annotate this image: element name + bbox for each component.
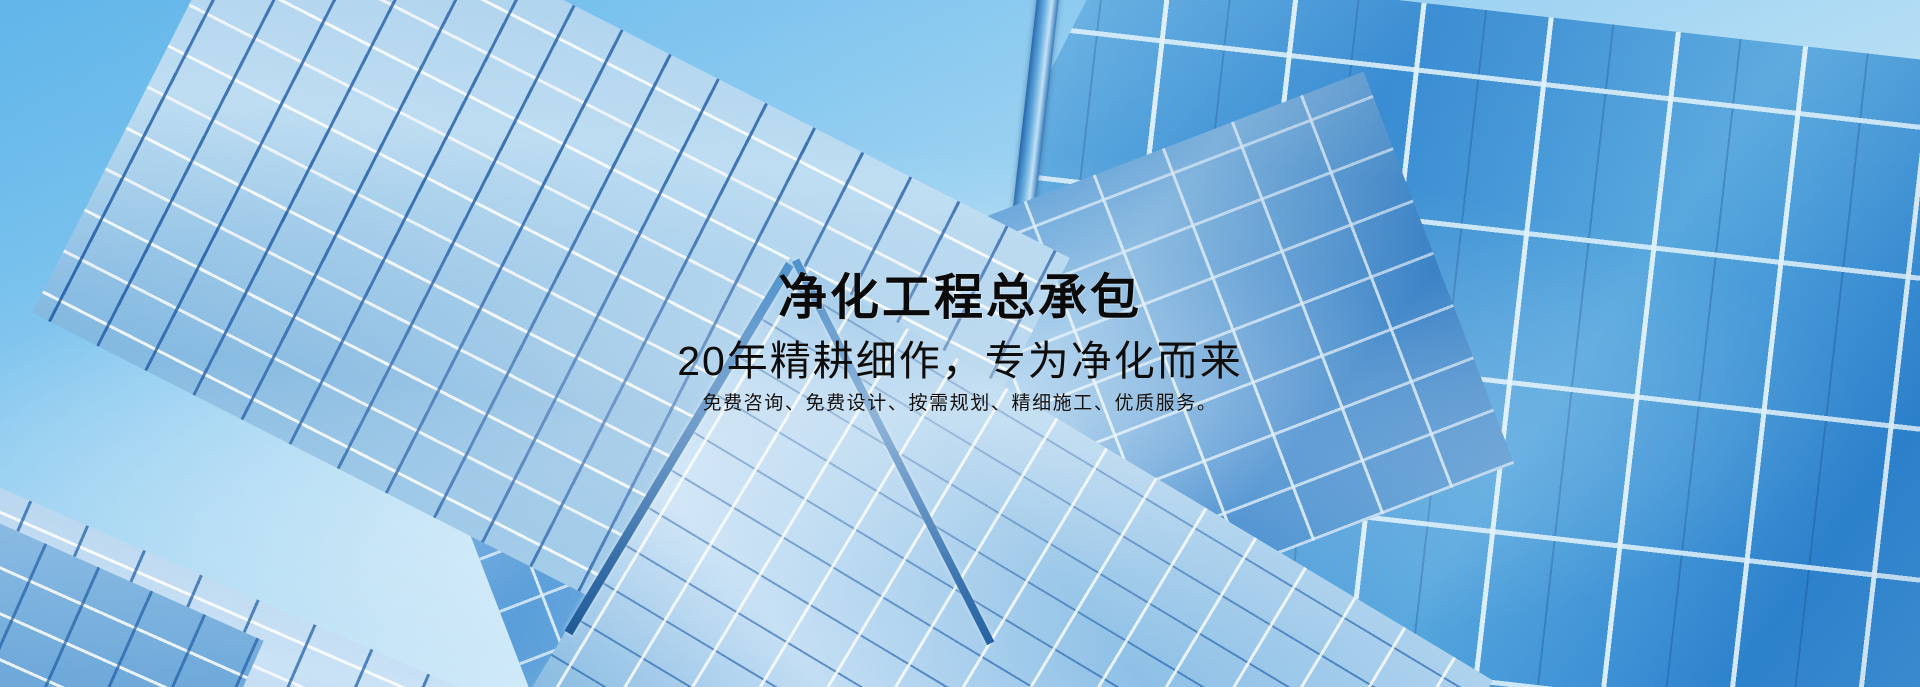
banner-copy: 净化工程总承包 20年精耕细作，专为净化而来 免费咨询、免费设计、按需规划、精细… xyxy=(0,272,1920,416)
banner-tagline: 免费咨询、免费设计、按需规划、精细施工、优质服务。 xyxy=(0,393,1920,416)
banner-subheadline: 20年精耕细作，专为净化而来 xyxy=(0,339,1920,384)
hero-banner: 净化工程总承包 20年精耕细作，专为净化而来 免费咨询、免费设计、按需规划、精细… xyxy=(0,0,1920,687)
banner-headline: 净化工程总承包 xyxy=(0,272,1920,325)
